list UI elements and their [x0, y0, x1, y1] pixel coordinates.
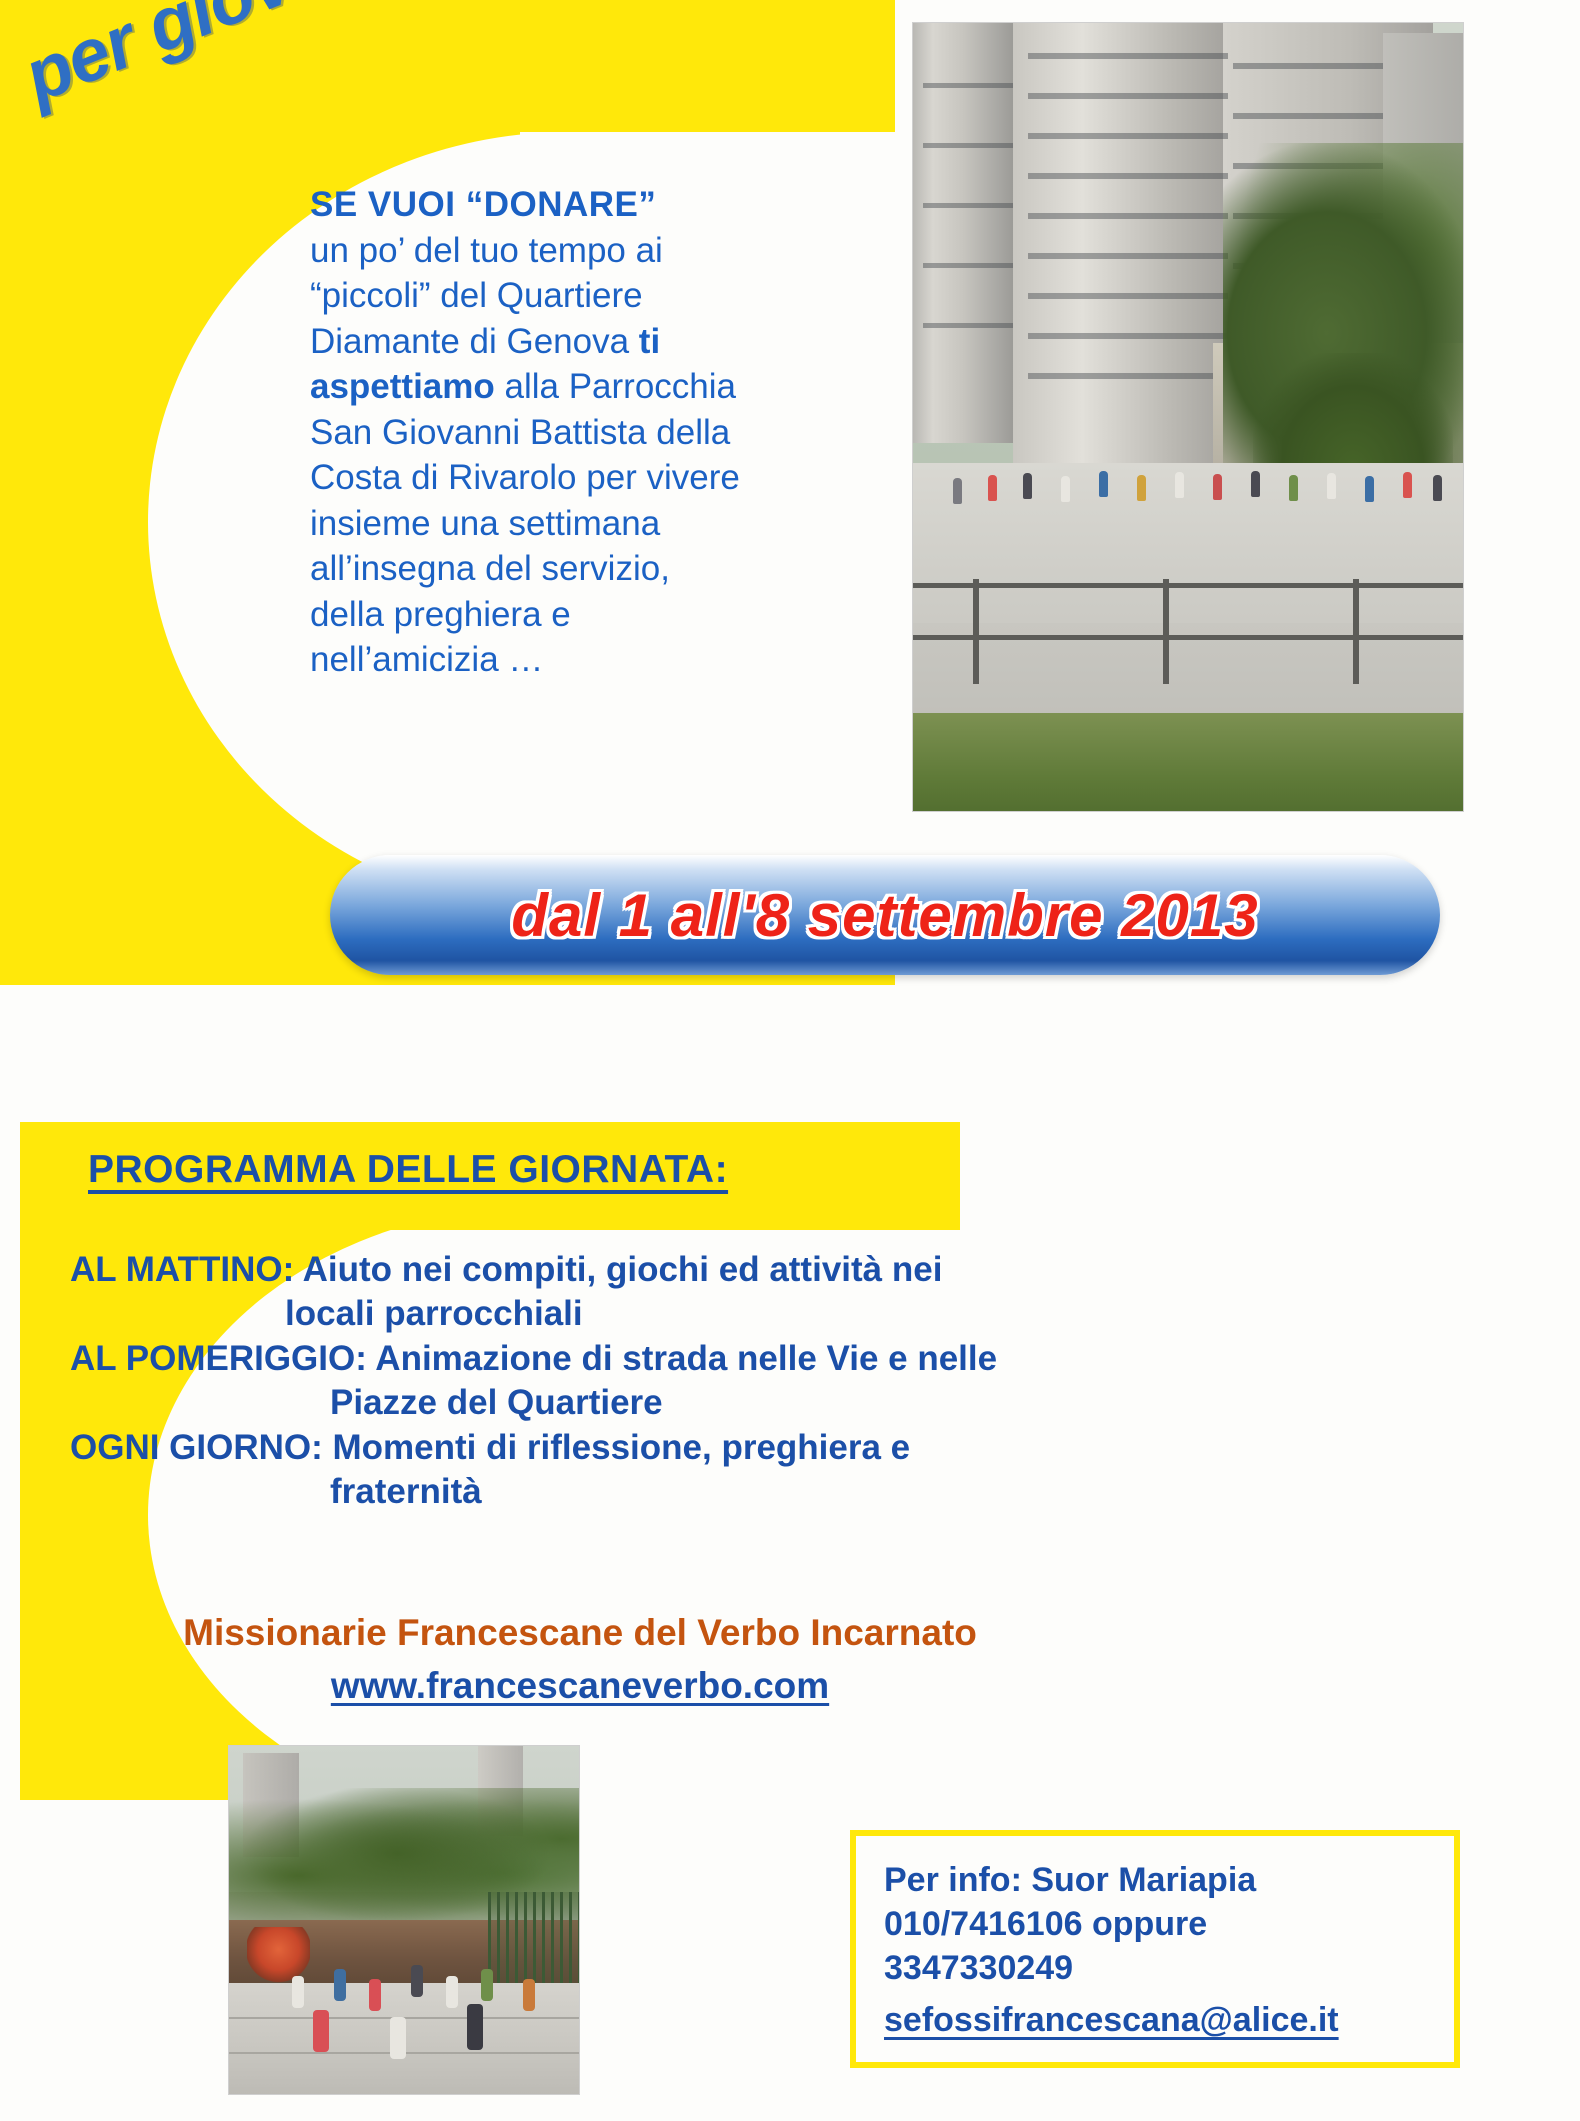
contact-line-phone-landline: 010/7416106 oppure	[884, 1902, 1454, 1946]
program-heading: PROGRAMMA DELLE GIORNATA:	[88, 1148, 728, 1192]
intro-line-5: aspettiamo alla Parrocchia	[310, 364, 910, 410]
contact-line-name: Per info: Suor Mariapia	[884, 1858, 1454, 1902]
intro-line-2: un po’ del tuo tempo ai	[310, 228, 910, 274]
intro-line-8: insieme una settimana	[310, 501, 910, 547]
intro-line-11: nell’amicizia …	[310, 637, 910, 683]
contact-info-box: Per info: Suor Mariapia 010/7416106 oppu…	[850, 1830, 1460, 2068]
intro-line-6: San Giovanni Battista della	[310, 410, 910, 456]
program-item-pomeriggio-label: AL POMERIGGIO:	[70, 1339, 367, 1378]
courtyard-children-photo	[912, 22, 1464, 812]
intro-line-4-text: Diamante di Genova	[310, 322, 639, 361]
intro-line-4-bold: ti	[639, 322, 660, 361]
intro-line-5-text: alla Parrocchia	[495, 367, 736, 406]
program-item-pomeriggio: AL POMERIGGIO: Animazione di strada nell…	[70, 1337, 1200, 1426]
contact-email-link[interactable]: sefossifrancescana@alice.it	[884, 2001, 1454, 2040]
program-item-mattino: AL MATTINO: Aiuto nei compiti, giochi ed…	[70, 1248, 1200, 1337]
program-item-pomeriggio-cont: Piazze del Quartiere	[70, 1381, 1200, 1425]
date-banner: dal 1 all'8 settembre 2013	[330, 855, 1440, 975]
intro-line-9: all’insegna del servizio,	[310, 546, 910, 592]
program-item-pomeriggio-text: Animazione di strada nelle Vie e nelle	[367, 1339, 997, 1378]
program-list: AL MATTINO: Aiuto nei compiti, giochi ed…	[70, 1248, 1200, 1515]
program-item-mattino-label: AL MATTINO:	[70, 1250, 294, 1289]
date-banner-label: dal 1 all'8 settembre 2013	[330, 855, 1440, 975]
intro-line-5-bold: aspettiamo	[310, 367, 495, 406]
playground-children-photo	[228, 1745, 580, 2095]
contact-line-phone-mobile: 3347330249	[884, 1946, 1454, 1990]
intro-lead: SE VUOI “DONARE”	[310, 182, 910, 228]
program-item-ognigiorno: OGNI GIORNO: Momenti di riflessione, pre…	[70, 1426, 1200, 1515]
intro-line-7: Costa di Rivarolo per vivere	[310, 455, 910, 501]
program-item-mattino-cont: locali parrocchiali	[70, 1292, 1200, 1336]
intro-line-4: Diamante di Genova ti	[310, 319, 910, 365]
program-item-ognigiorno-label: OGNI GIORNO:	[70, 1428, 323, 1467]
intro-line-10: della preghiera e	[310, 592, 910, 638]
intro-line-3: “piccoli” del Quartiere	[310, 273, 910, 319]
organization-website-link[interactable]: www.francescaneverbo.com	[0, 1665, 1160, 1707]
organization-name: Missionarie Francescane del Verbo Incarn…	[0, 1612, 1160, 1654]
program-item-mattino-text: Aiuto nei compiti, giochi ed attività ne…	[294, 1250, 942, 1289]
program-item-ognigiorno-cont: fraternità	[70, 1470, 1200, 1514]
intro-paragraph: SE VUOI “DONARE” un po’ del tuo tempo ai…	[310, 182, 910, 683]
flyer-page: per giovani SE VUOI “DONARE” un po’ del …	[0, 0, 1580, 2121]
program-item-ognigiorno-text: Momenti di riflessione, preghiera e	[323, 1428, 910, 1467]
